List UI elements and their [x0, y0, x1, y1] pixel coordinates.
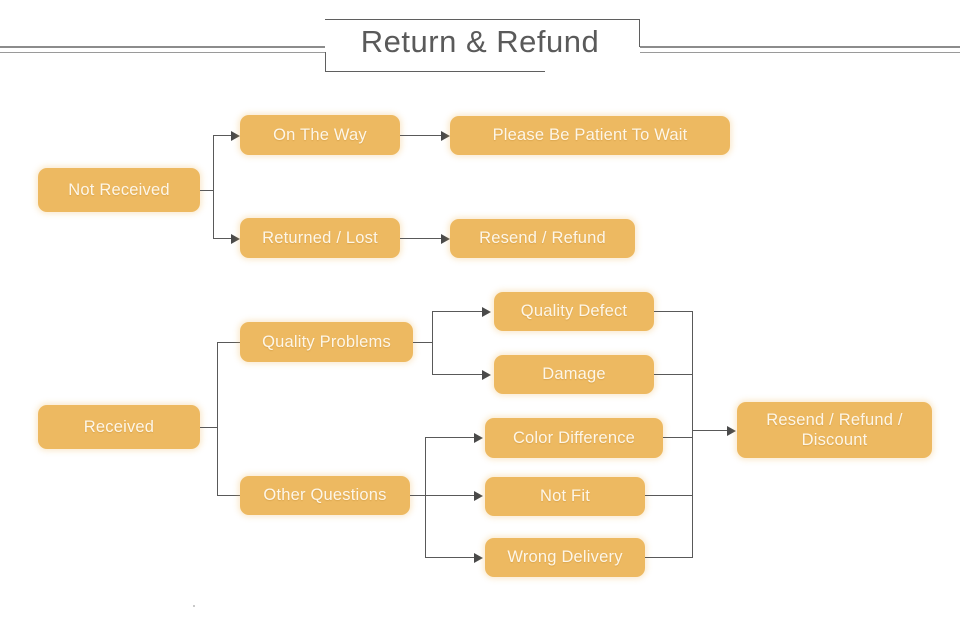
edge-received-bracket — [217, 342, 218, 496]
arrow-to-returned-lost — [231, 234, 240, 244]
arrow-to-quality-defect — [482, 307, 491, 317]
edge-bus-to-resend-refund-discount — [692, 430, 730, 431]
edge-not-fit-to-bus — [645, 495, 693, 496]
arrow-to-damage — [482, 370, 491, 380]
edge-quality-problems-bracket — [432, 311, 433, 375]
edge-other-questions-to-wrong-delivery — [425, 557, 476, 558]
edge-other-questions-to-color-difference — [425, 437, 476, 438]
edge-quality-problems-to-quality-defect — [432, 311, 484, 312]
edge-quality-problems-to-damage — [432, 374, 484, 375]
arrow-to-color-difference — [474, 433, 483, 443]
node-resend-refund[interactable]: Resend / Refund — [450, 219, 635, 258]
node-color-difference[interactable]: Color Difference — [485, 418, 663, 458]
node-resend-refund-discount-line-2: Discount — [802, 430, 868, 450]
edge-on-the-way-to-please-wait — [400, 135, 444, 136]
node-other-questions[interactable]: Other Questions — [240, 476, 410, 515]
node-not-received[interactable]: Not Received — [38, 168, 200, 212]
node-returned-lost[interactable]: Returned / Lost — [240, 218, 400, 258]
edge-color-difference-to-bus — [663, 437, 693, 438]
arrow-to-resend-refund — [441, 234, 450, 244]
edge-not-received-stem — [200, 190, 214, 191]
node-resend-refund-discount-line-1: Resend / Refund / — [766, 410, 902, 430]
header-frame-bottom — [325, 71, 545, 72]
edge-returned-lost-to-resend-refund — [400, 238, 444, 239]
scan-speck — [193, 605, 195, 607]
collector-bus — [692, 311, 693, 558]
page-title: Return & Refund — [0, 20, 960, 64]
arrow-to-on-the-way — [231, 131, 240, 141]
node-damage[interactable]: Damage — [494, 355, 654, 394]
edge-other-questions-stem — [410, 495, 426, 496]
node-on-the-way[interactable]: On The Way — [240, 115, 400, 155]
arrow-to-please-wait — [441, 131, 450, 141]
edge-received-to-quality-problems — [217, 342, 241, 343]
edge-received-to-other-questions — [217, 495, 241, 496]
node-received[interactable]: Received — [38, 405, 200, 449]
edge-quality-problems-stem — [413, 342, 433, 343]
node-wrong-delivery[interactable]: Wrong Delivery — [485, 538, 645, 577]
edge-quality-defect-to-bus — [654, 311, 693, 312]
arrow-to-resend-refund-discount — [727, 426, 736, 436]
edge-other-questions-to-not-fit — [425, 495, 476, 496]
edge-received-stem — [200, 427, 218, 428]
node-please-be-patient-to-wait[interactable]: Please Be Patient To Wait — [450, 116, 730, 155]
node-quality-defect[interactable]: Quality Defect — [494, 292, 654, 331]
node-resend-refund-discount[interactable]: Resend / Refund / Discount — [737, 402, 932, 458]
arrow-to-not-fit — [474, 491, 483, 501]
diagram-canvas: Return & Refund Not Received On The Way … — [0, 0, 960, 618]
edge-wrong-delivery-to-bus — [645, 557, 693, 558]
edge-other-questions-bracket — [425, 437, 426, 558]
arrow-to-wrong-delivery — [474, 553, 483, 563]
node-not-fit[interactable]: Not Fit — [485, 477, 645, 516]
node-quality-problems[interactable]: Quality Problems — [240, 322, 413, 362]
edge-not-received-bracket — [213, 135, 214, 239]
edge-damage-to-bus — [654, 374, 693, 375]
